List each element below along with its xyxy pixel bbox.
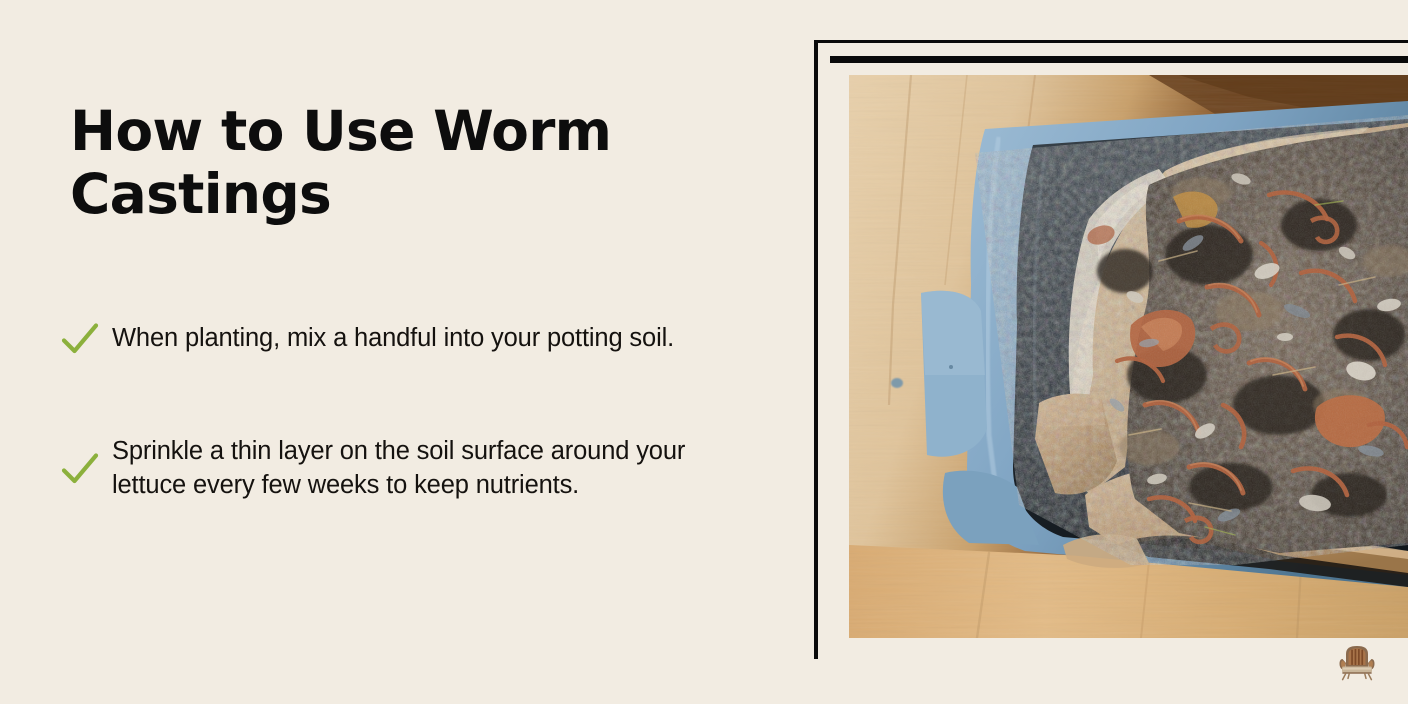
worm-bin-photo <box>849 75 1408 638</box>
list-item-label: Sprinkle a thin layer on the soil surfac… <box>112 435 737 503</box>
check-icon <box>58 317 102 361</box>
frame-rule-top-thick <box>830 56 1408 63</box>
text-column: How to Use Worm Castings When planting, … <box>0 0 800 704</box>
frame-rule-vertical <box>814 40 818 659</box>
page-title: How to Use Worm Castings <box>70 100 630 225</box>
tips-list: When planting, mix a handful into your p… <box>58 300 768 508</box>
slide-canvas: How to Use Worm Castings When planting, … <box>0 0 1408 704</box>
list-item: Sprinkle a thin layer on the soil surfac… <box>58 430 768 508</box>
list-item-label: When planting, mix a handful into your p… <box>112 322 674 356</box>
list-item: When planting, mix a handful into your p… <box>58 300 768 378</box>
check-icon <box>58 447 102 491</box>
armchair-logo-icon <box>1336 641 1378 683</box>
frame-rule-top-thin <box>814 40 1408 43</box>
